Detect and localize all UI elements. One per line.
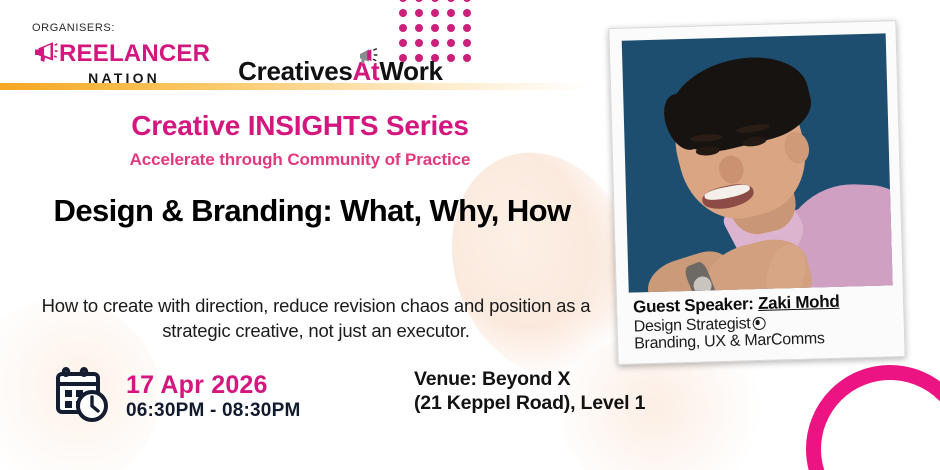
caw-part3: Work xyxy=(379,56,442,86)
datetime-block: 17 Apr 2026 06:30PM - 08:30PM xyxy=(52,366,300,427)
organisers-label: ORGANISERS: xyxy=(32,22,115,34)
event-date: 17 Apr 2026 xyxy=(126,372,300,399)
series-subtitle: Accelerate through Community of Practice xyxy=(0,150,600,170)
megaphone-icon xyxy=(32,39,58,68)
speaker-name: Zaki Mohd xyxy=(758,292,840,313)
creatives-at-work-logo: CreativesAtWork xyxy=(238,48,443,85)
venue-block: Venue: Beyond X (21 Keppel Road), Level … xyxy=(414,368,645,416)
page-title: Design & Branding: What, Why, How xyxy=(22,192,602,230)
datetime-text: 17 Apr 2026 06:30PM - 08:30PM xyxy=(126,372,300,422)
venue-line-1: Venue: Beyond X xyxy=(414,368,645,392)
freelancer-nation-logo: REELANCER NATION xyxy=(32,39,210,85)
guest-speaker-label: Guest Speaker: xyxy=(633,294,758,316)
freelancer-nation-sub: NATION xyxy=(38,71,210,85)
caw-part1: Creatives xyxy=(238,56,352,86)
venue-line-2: (21 Keppel Road), Level 1 xyxy=(414,392,645,416)
registered-dot-icon xyxy=(752,317,765,330)
series-title: Creative INSIGHTS Series xyxy=(0,110,600,142)
event-description: How to create with direction, reduce rev… xyxy=(22,294,610,344)
pink-ring-decoration xyxy=(806,365,940,470)
event-time: 06:30PM - 08:30PM xyxy=(126,401,300,422)
freelancer-nation-word: REELANCER xyxy=(59,42,210,66)
organisers-block: ORGANISERS: REE xyxy=(32,22,115,38)
speaker-polaroid-card: Guest Speaker: Zaki Mohd Design Strategi… xyxy=(608,20,905,364)
speaker-photo xyxy=(622,33,893,292)
megaphone-icon xyxy=(356,46,384,73)
event-banner: ORGANISERS: REE xyxy=(0,0,940,470)
organiser-logos: REELANCER NATION CreativesAtWork xyxy=(32,39,443,85)
calendar-clock-icon xyxy=(52,366,110,427)
speaker-caption: Guest Speaker: Zaki Mohd Design Strategi… xyxy=(629,285,893,355)
creatives-at-work-word: CreativesAtWork xyxy=(238,56,443,86)
